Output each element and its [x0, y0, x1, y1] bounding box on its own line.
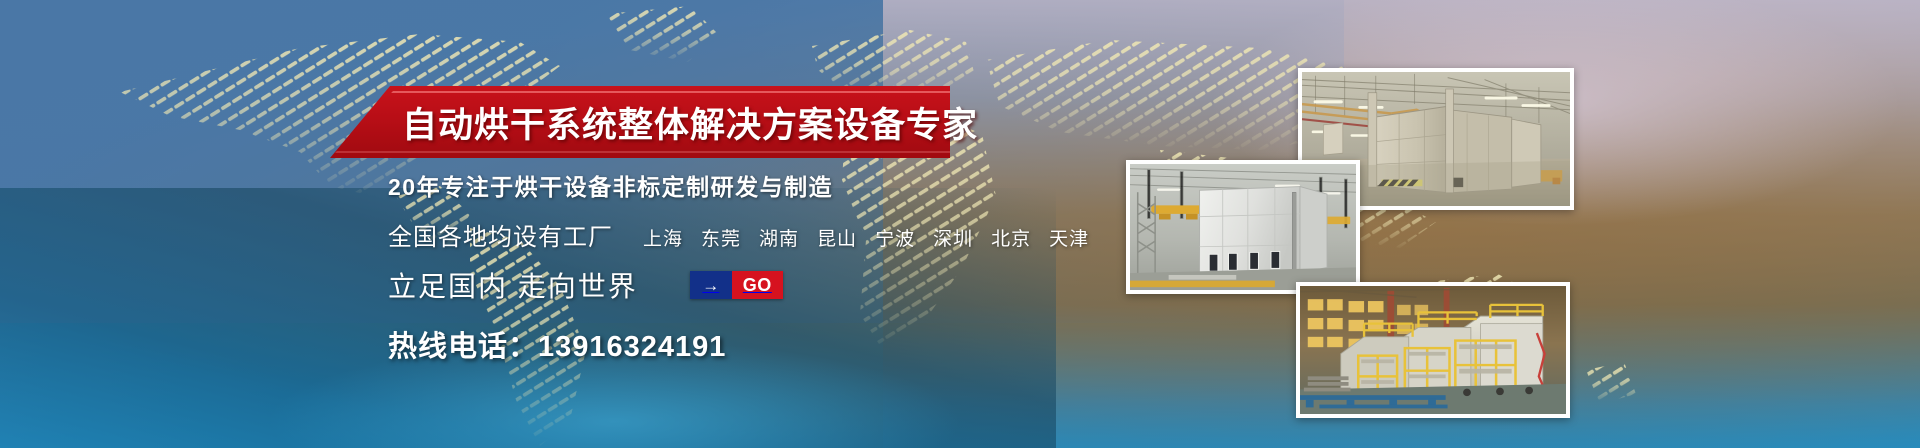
factory-city-list: 上海 东莞 湖南 昆山 宁波 深圳 北京 天津 [643, 224, 1089, 251]
city-item: 北京 [991, 224, 1031, 251]
hotline-text: 热线电话：13916324191 [388, 323, 1089, 365]
photo-oven-chamber-art [1130, 164, 1356, 290]
go-button[interactable]: → GO [690, 271, 783, 299]
go-button-label: GO [732, 271, 783, 299]
city-item: 深圳 [933, 224, 973, 251]
photo-oven-line [1296, 282, 1570, 418]
headline-ribbon: 自动烘干系统整体解决方案设备专家 [330, 86, 950, 158]
promo-banner: 自动烘干系统整体解决方案设备专家 20年专注于烘干设备非标定制研发与制造 全国各… [0, 0, 1920, 448]
city-item: 天津 [1049, 224, 1089, 251]
factories-label: 全国各地均设有工厂 [388, 217, 613, 252]
city-item: 上海 [643, 224, 683, 251]
arrow-right-icon: → [690, 271, 732, 299]
subheadline: 20年专注于烘干设备非标定制研发与制造 [388, 168, 1089, 202]
banner-text-block: 20年专注于烘干设备非标定制研发与制造 全国各地均设有工厂 上海 东莞 湖南 昆… [388, 168, 1089, 365]
city-item: 昆山 [817, 224, 857, 251]
city-item: 湖南 [759, 224, 799, 251]
slogan-row: 立足国内 走向世界 → GO [388, 265, 1089, 305]
factories-row: 全国各地均设有工厂 上海 东莞 湖南 昆山 宁波 深圳 北京 天津 [388, 217, 1089, 252]
photo-oven-line-art [1300, 286, 1566, 414]
page-title: 自动烘干系统整体解决方案设备专家 [402, 86, 978, 158]
city-item: 宁波 [875, 224, 915, 251]
slogan-text: 立足国内 走向世界 [388, 265, 638, 305]
photo-oven-chamber [1126, 160, 1360, 294]
city-item: 东莞 [701, 224, 741, 251]
